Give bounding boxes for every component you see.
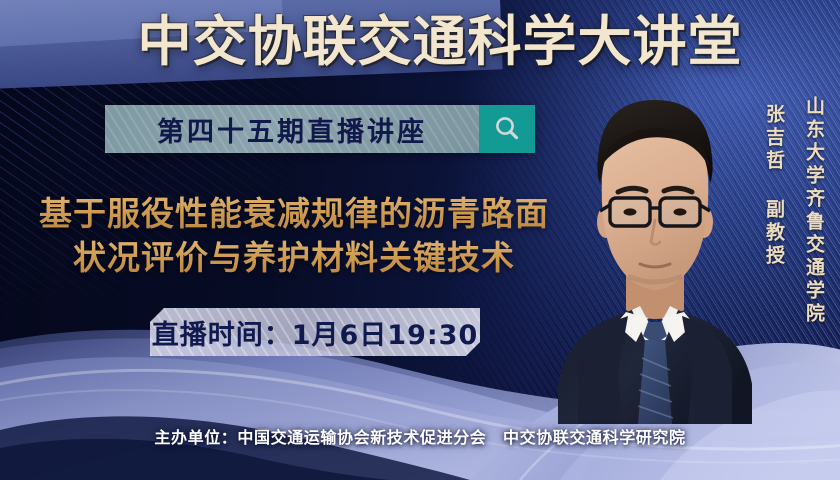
poster-canvas: 中交协联交通科学大讲堂 第四十五期直播讲座 基于服役性能衰减规律的沥青路面 状况…: [0, 0, 840, 480]
speaker-name-title: 张吉哲 副教授: [761, 104, 788, 268]
lecture-title-line-1: 基于服役性能衰减规律的沥青路面: [14, 192, 574, 236]
session-bar-label-wrap: 第四十五期直播讲座: [105, 105, 479, 153]
search-icon-button[interactable]: [479, 105, 535, 153]
organizer-footer-text: 主办单位：中国交通运输协会新技术促进分会 中交协联交通科学研究院: [154, 428, 685, 447]
session-bar[interactable]: 第四十五期直播讲座: [105, 105, 535, 153]
lecture-title-line-2: 状况评价与养护材料关键技术: [14, 236, 574, 280]
session-bar-label: 第四十五期直播讲座: [157, 110, 427, 149]
poster-headline: 中交协联交通科学大讲堂: [0, 14, 840, 71]
lecture-title: 基于服役性能衰减规律的沥青路面 状况评价与养护材料关键技术: [14, 192, 574, 280]
organizer-footer: 主办单位：中国交通运输协会新技术促进分会 中交协联交通科学研究院: [0, 424, 840, 448]
speaker-organization: 山东大学齐鲁交通学院: [801, 96, 828, 326]
broadcast-time-badge: 直播时间：1月6日19:30: [150, 308, 480, 356]
broadcast-time-label: 直播时间：1月6日19:30: [152, 313, 479, 352]
search-icon: [492, 114, 522, 144]
headline-text: 中交协联交通科学大讲堂: [98, 14, 743, 71]
speaker-photo: [548, 72, 762, 424]
